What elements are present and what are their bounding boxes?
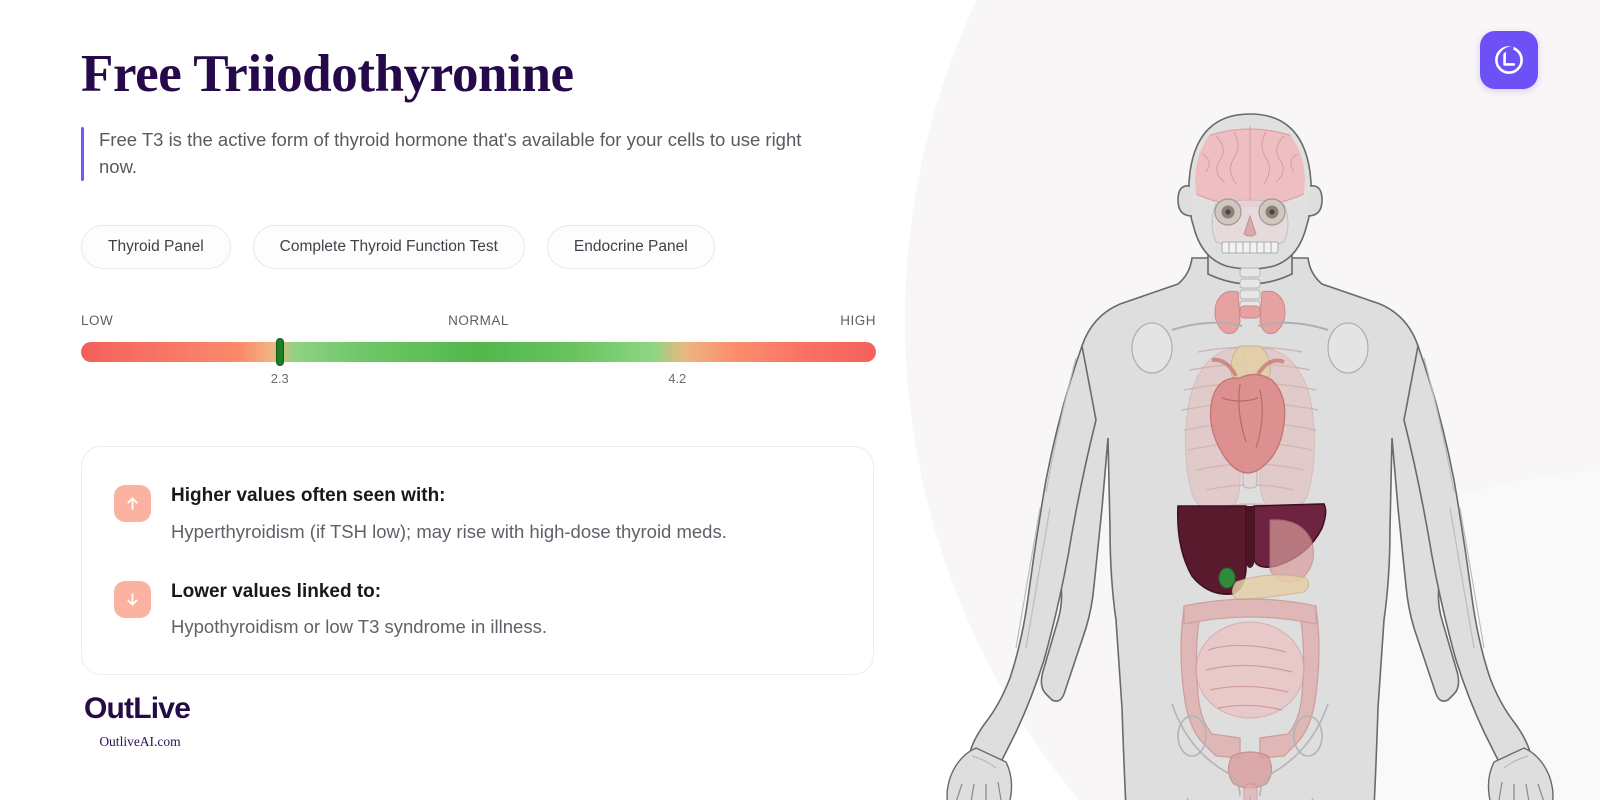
panel-pill-list: Thyroid Panel Complete Thyroid Function … [81,225,901,269]
gauge-tick-high: 4.2 [668,371,686,386]
gauge-zone-labels: LOW NORMAL HIGH [81,313,876,331]
arrow-up-glyph [124,495,141,512]
page-title: Free Triiodothyronine [81,46,901,103]
brand-logo-badge[interactable] [1480,31,1538,89]
report-page: Free Triiodothyronine Free T3 is the act… [0,0,1600,800]
panel-pill-complete-thyroid[interactable]: Complete Thyroid Function Test [253,225,525,269]
footer-url: OutliveAI.com [84,734,196,750]
gauge-tick-low: 2.3 [271,371,289,386]
panel-pill-thyroid[interactable]: Thyroid Panel [81,225,231,269]
gauge-tick-labels: 2.3 4.2 [81,371,876,391]
info-heading-lower: Lower values linked to: [171,580,547,605]
gauge-label-high: HIGH [840,313,876,328]
info-item-higher: Higher values often seen with: Hyperthyr… [114,483,835,545]
arrow-up-icon [114,485,151,522]
info-item-lower: Lower values linked to: Hypothyroidism o… [114,579,835,641]
footer-brand: OutLive OutliveAI.com [84,694,196,750]
interpretation-card: Higher values often seen with: Hyperthyr… [81,446,874,675]
subtitle-accent-bar [81,127,84,181]
outlive-circle-l-logo-icon [1492,43,1526,77]
info-description-lower: Hypothyroidism or low T3 syndrome in ill… [171,615,547,640]
gauge-label-low: LOW [81,313,113,328]
human-anatomy-illustration [940,108,1560,800]
gauge-value-marker[interactable] [276,338,284,366]
panel-pill-endocrine[interactable]: Endocrine Panel [547,225,715,269]
footer-logo-text: OutLive [84,694,190,724]
arrow-down-icon [114,581,151,618]
reference-range-gauge: LOW NORMAL HIGH 2.3 4.2 [81,313,876,391]
arrow-down-glyph [124,591,141,608]
info-body-higher: Higher values often seen with: Hyperthyr… [171,483,727,545]
info-heading-higher: Higher values often seen with: [171,484,727,509]
gauge-label-normal: NORMAL [448,313,509,328]
subtitle-block: Free T3 is the active form of thyroid ho… [81,127,901,181]
info-body-lower: Lower values linked to: Hypothyroidism o… [171,579,547,641]
subtitle-text: Free T3 is the active form of thyroid ho… [99,127,829,181]
anatomy-svg [940,108,1560,800]
gauge-bar-track[interactable] [81,342,876,362]
content-column: Free Triiodothyronine Free T3 is the act… [81,46,901,675]
info-description-higher: Hyperthyroidism (if TSH low); may rise w… [171,520,727,545]
footer-logo: OutLive [84,694,196,724]
